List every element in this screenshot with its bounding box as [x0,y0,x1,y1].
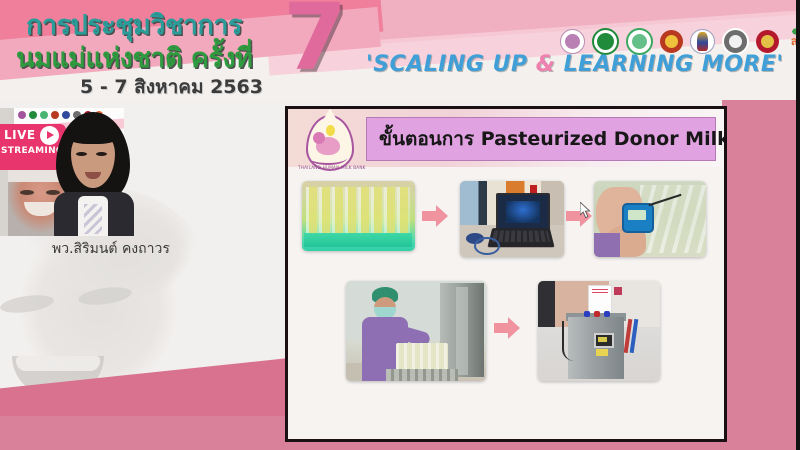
photo-nurse-loading-bottles [346,281,486,381]
conference-tagline: 'SCALING UP & LEARNING MORE' [366,52,796,77]
logo-caption: THAILAND HUMAN MILK BANK [298,165,360,170]
process-arrow-3 [494,317,520,339]
university-emblem-logo [722,28,749,55]
conference-date: 5 - 7 สิงหาคม 2563 [80,72,263,100]
photo-pasteurizer-machine [538,281,660,381]
slide-title: ขั้นตอนการ Pasteurized Donor Milk [367,124,727,154]
header-title-block: การประชุมวิชาการ นมแม่แห่งชาติ ครั้งที่ … [0,0,300,100]
tagline-ampersand: & [536,52,556,77]
pink-right-margin [722,96,800,450]
tagline-part2: LEARNING MORE' [555,52,783,77]
royal-patronage-logo [560,29,585,54]
medical-association-logo [756,30,779,53]
ministry-of-public-health-logo [626,28,653,55]
presentation-slide-panel: THAILAND HUMAN MILK BANK ขั้นตอนการ Past… [285,106,727,442]
screen-edge-right [796,0,800,450]
photo-laptop-record [460,181,564,257]
speaker-video-portrait [52,112,136,236]
photo-thermometer-check [594,181,706,257]
nursing-council-logo [690,29,715,54]
mouse-cursor-icon [580,202,592,220]
royal-college-logo [660,30,683,53]
conference-header: 7 การประชุมวิชาการ นมแม่แห่งชาติ ครั้งที… [0,0,800,100]
photo-bottles-rack [302,181,415,251]
human-milk-bank-logo: THAILAND HUMAN MILK BANK [298,113,360,179]
live-label: LIVE [4,128,36,142]
process-arrow-1 [422,205,448,227]
thai-breastfeeding-centre-logo [592,28,619,55]
speaker-name: พว.สิริมนต์ คงถาวร [52,238,170,260]
slide-screenshot: 7 การประชุมวิชาการ นมแม่แห่งชาติ ครั้งที… [0,0,800,450]
slide-title-banner: ขั้นตอนการ Pasteurized Donor Milk [366,117,716,161]
tagline-part1: 'SCALING UP [366,52,536,77]
